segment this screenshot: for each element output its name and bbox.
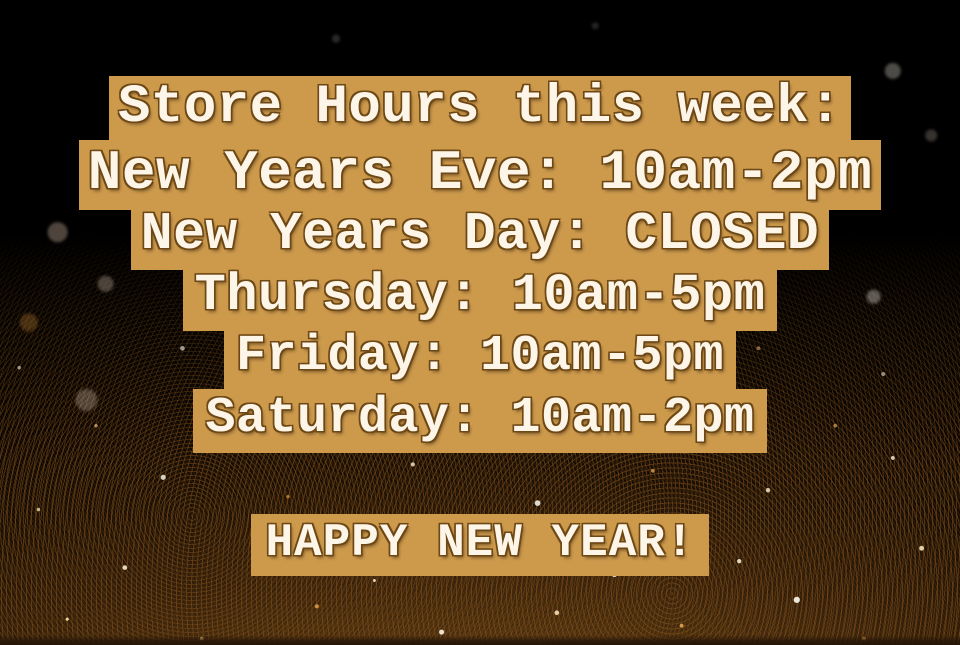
hours-thursday-text: Thursday: 10am-5pm [183,265,778,331]
store-hours-poster: Store Hours this week: New Years Eve: 10… [0,0,960,645]
poster-line-new-years-day: New Years Day: CLOSED [0,203,960,270]
poster-line-thursday: Thursday: 10am-5pm [0,265,960,331]
hours-friday-text: Friday: 10am-5pm [224,327,736,391]
poster-line-saturday: Saturday: 10am-2pm [0,389,960,453]
poster-line-title: Store Hours this week: [0,76,960,144]
poster-title-text: Store Hours this week: [109,76,851,144]
greeting-text: HAPPY NEW YEAR! [251,514,708,576]
poster-line-friday: Friday: 10am-5pm [0,327,960,391]
poster-text-block: Store Hours this week: New Years Eve: 10… [0,0,960,645]
poster-line-new-years-eve: New Years Eve: 10am-2pm [0,140,960,210]
hours-new-years-eve-text: New Years Eve: 10am-2pm [79,140,881,210]
hours-saturday-text: Saturday: 10am-2pm [193,389,766,453]
hours-new-years-day-text: New Years Day: CLOSED [131,203,829,270]
poster-line-greeting: HAPPY NEW YEAR! [0,514,960,576]
